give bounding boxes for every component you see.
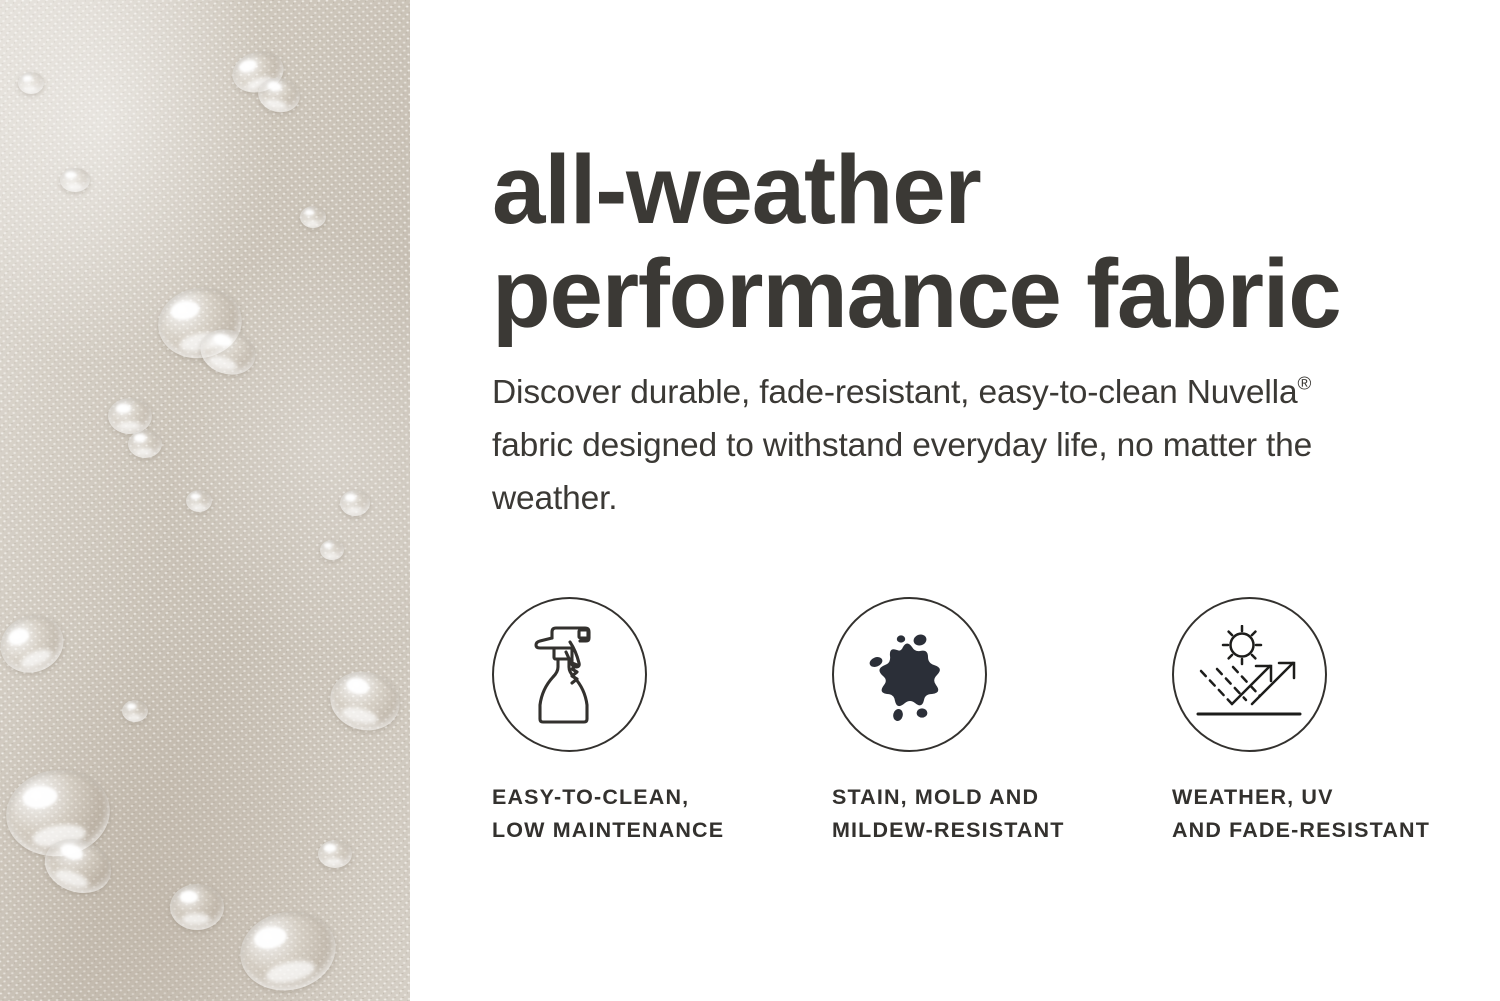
feature-item-easy-to-clean: EASY-TO-CLEAN, LOW MAINTENANCE <box>492 597 724 847</box>
subcopy-part-1: Discover durable, fade-resistant, easy-t… <box>492 374 1297 411</box>
fabric-photo <box>0 0 410 1001</box>
feature-caption: EASY-TO-CLEAN, LOW MAINTENANCE <box>492 781 724 847</box>
water-droplet <box>340 490 370 516</box>
water-droplet <box>300 206 326 228</box>
spray-bottle-icon <box>492 597 647 752</box>
feature-caption: STAIN, MOLD AND MILDEW-RESISTANT <box>832 781 1065 847</box>
feature-caption: WEATHER, UV AND FADE-RESISTANT <box>1172 781 1430 847</box>
water-droplet <box>170 884 224 930</box>
registered-trademark-mark: ® <box>1297 373 1311 394</box>
sun-uv-reflect-icon <box>1172 597 1327 752</box>
water-droplet <box>318 840 352 868</box>
water-droplet <box>60 168 90 192</box>
water-droplet <box>18 72 44 94</box>
water-droplet <box>122 700 148 722</box>
subcopy-part-2: fabric designed to withstand everyday li… <box>492 427 1312 517</box>
subcopy-paragraph: Discover durable, fade-resistant, easy-t… <box>492 366 1392 525</box>
all-weather-fabric-banner: all-weather performance fabric Discover … <box>0 0 1500 1001</box>
content-column: all-weather performance fabric Discover … <box>492 0 1500 1001</box>
water-droplet <box>108 398 152 434</box>
water-droplet <box>186 490 212 512</box>
water-droplet <box>128 430 162 458</box>
water-droplet <box>320 540 344 560</box>
page-title: all-weather performance fabric <box>492 138 1442 346</box>
stain-splatter-icon <box>832 597 987 752</box>
feature-item-stain-resistant: STAIN, MOLD AND MILDEW-RESISTANT <box>832 597 1065 847</box>
feature-item-weather-uv-resistant: WEATHER, UV AND FADE-RESISTANT <box>1172 597 1430 847</box>
